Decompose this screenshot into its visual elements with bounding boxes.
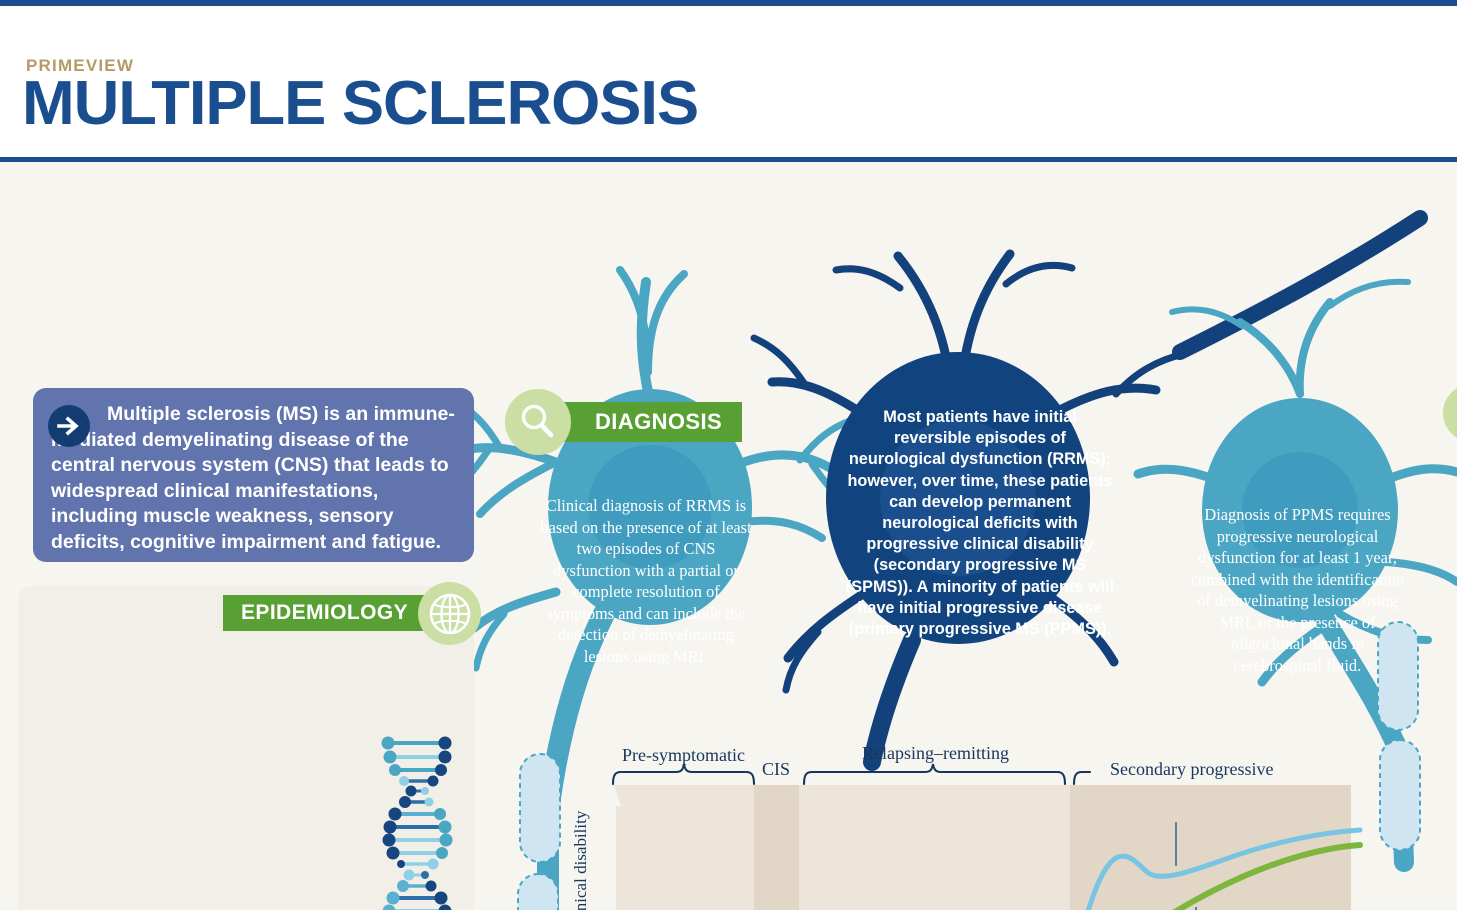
band-cis: [754, 785, 799, 910]
section-label-diagnosis: DIAGNOSIS: [595, 409, 722, 435]
page-title: MULTIPLE SCLEROSIS: [22, 68, 698, 139]
phase-brackets: [613, 764, 1090, 784]
dna-helix-icon: [375, 734, 461, 910]
neuron-right-text: Diagnosis of PPMS requires progressive n…: [1185, 504, 1410, 676]
band-relapsing-remitting: [799, 785, 1070, 910]
neuron-center-text: Most patients have initial reversible ep…: [845, 407, 1115, 640]
section-banner-diagnosis: DIAGNOSIS: [561, 402, 742, 442]
intro-callout: Multiple sclerosis (MS) is an immune-med…: [33, 388, 474, 562]
neuron-left-text: Clinical diagnosis of RRMS is based on t…: [540, 495, 752, 667]
page-header: PRIMEVIEW MULTIPLE SCLEROSIS: [0, 0, 1457, 162]
section-label-epidemiology: EPIDEMIOLOGY: [241, 601, 408, 625]
intro-text: Multiple sclerosis (MS) is an immune-med…: [51, 402, 456, 555]
band-pre-symptomatic: [613, 785, 754, 910]
arrow-right-icon: [48, 405, 90, 447]
globe-icon: [418, 582, 481, 645]
infographic-canvas: Pre-symptomatic CIS Relapsing–remitting …: [0, 162, 1457, 910]
magnifier-icon: [505, 389, 571, 455]
